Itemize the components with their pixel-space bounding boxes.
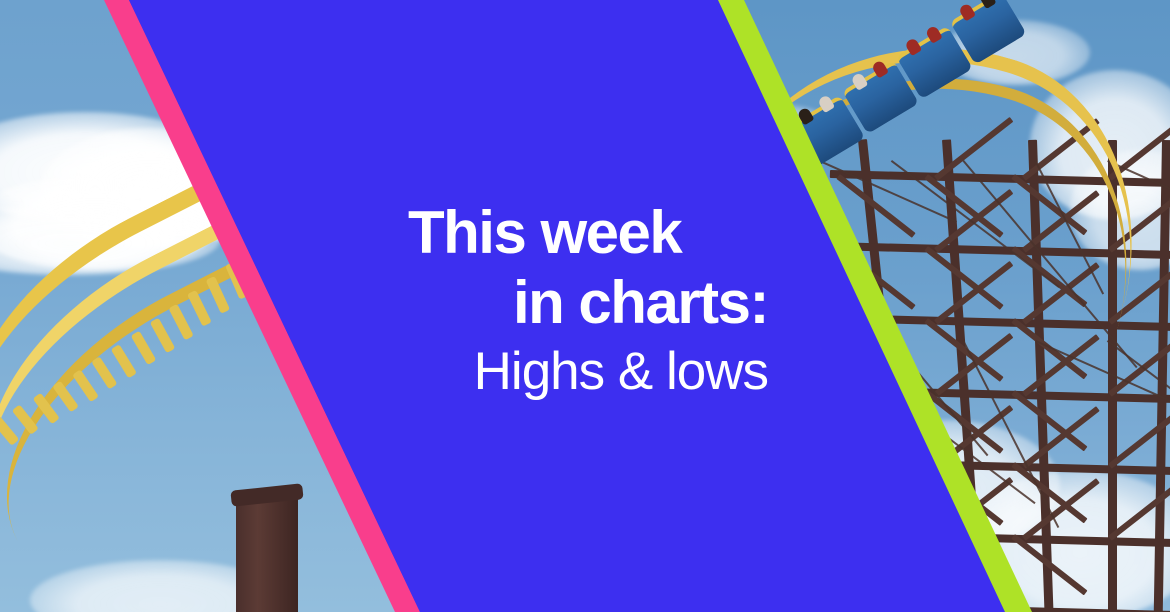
coaster-track-tie <box>12 404 39 435</box>
coaster-track-tie <box>168 304 193 340</box>
coaster-track-tie <box>187 290 212 327</box>
coaster-rider <box>925 25 943 44</box>
banner: This week in charts: Highs & lows <box>0 0 1170 612</box>
coaster-rider <box>958 2 976 21</box>
coaster-rider <box>871 59 889 78</box>
coaster-rider <box>850 72 868 91</box>
coaster-rider <box>817 94 835 113</box>
coaster-rider <box>904 37 922 56</box>
coaster-track-tie <box>111 344 137 378</box>
coaster-track-tie <box>0 415 19 445</box>
coaster-track-tie <box>32 393 59 424</box>
coaster-track-tie <box>91 356 117 389</box>
coaster-rider <box>979 0 997 9</box>
coaster-track-tie <box>206 276 230 314</box>
coaster-track-tie <box>130 331 156 366</box>
coaster-track-tie <box>52 381 79 413</box>
coaster-track-tie <box>149 317 175 353</box>
coaster-track-tie <box>72 369 99 402</box>
